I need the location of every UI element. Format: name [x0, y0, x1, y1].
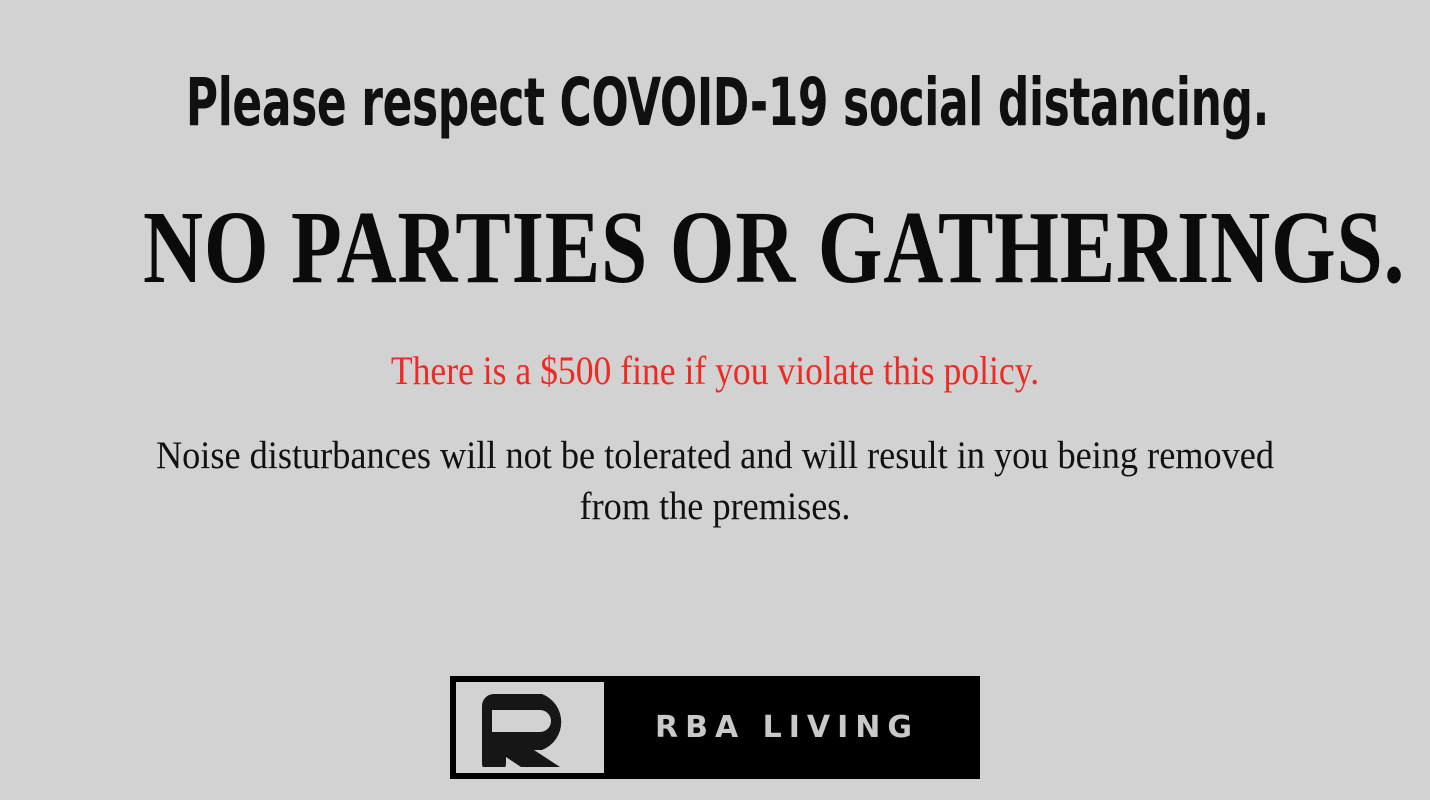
page-title: NO PARTIES OR GATHERINGS.: [143, 196, 1287, 300]
notice-poster: Please respect COVOID-19 social distanci…: [0, 0, 1430, 800]
fine-warning-text: There is a $500 fine if you violate this…: [79, 350, 1352, 392]
social-distancing-line: Please respect COVOID-19 social distanci…: [186, 70, 1244, 136]
logo-wordmark: RBA LIVING: [604, 710, 974, 745]
rba-living-logo: RBA LIVING: [450, 676, 980, 779]
noise-policy-text: Noise disturbances will not be tolerated…: [138, 430, 1291, 532]
logo-r-mark-icon: [456, 682, 604, 773]
